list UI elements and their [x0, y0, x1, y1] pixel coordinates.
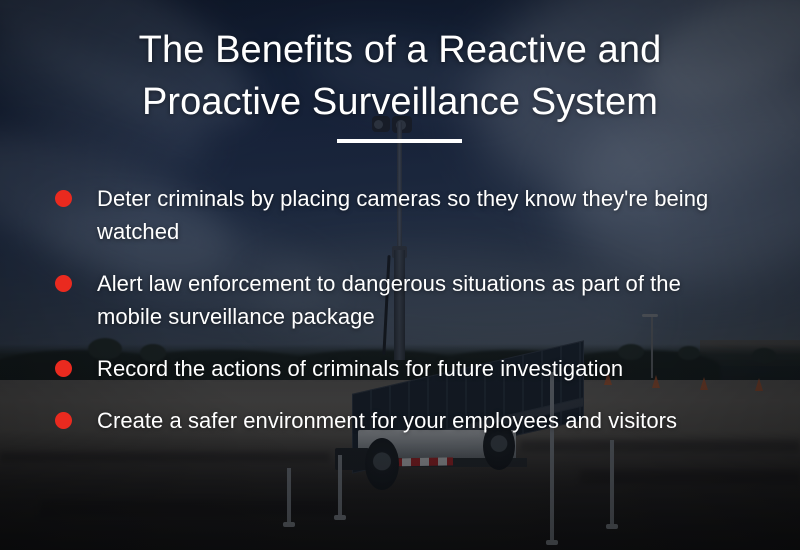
list-item-label: Record the actions of criminals for futu…: [97, 352, 623, 385]
infographic-slide: The Benefits of a Reactive and Proactive…: [0, 0, 800, 550]
list-item-label: Alert law enforcement to dangerous situa…: [97, 267, 737, 333]
list-item-label: Create a safer environment for your empl…: [97, 404, 677, 437]
title-divider: [337, 139, 462, 143]
title-line-1: The Benefits of a Reactive and: [0, 24, 800, 76]
list-item: Record the actions of criminals for futu…: [55, 352, 755, 385]
list-item: Alert law enforcement to dangerous situa…: [55, 267, 755, 333]
slide-content: The Benefits of a Reactive and Proactive…: [0, 0, 800, 550]
bullet-dot-icon: [55, 190, 72, 207]
benefits-list: Deter criminals by placing cameras so th…: [55, 182, 755, 456]
title-line-2: Proactive Surveillance System: [0, 76, 800, 128]
list-item-label: Deter criminals by placing cameras so th…: [97, 182, 737, 248]
bullet-dot-icon: [55, 360, 72, 377]
list-item: Create a safer environment for your empl…: [55, 404, 755, 437]
list-item: Deter criminals by placing cameras so th…: [55, 182, 755, 248]
bullet-dot-icon: [55, 275, 72, 292]
page-title: The Benefits of a Reactive and Proactive…: [0, 24, 800, 128]
bullet-dot-icon: [55, 412, 72, 429]
